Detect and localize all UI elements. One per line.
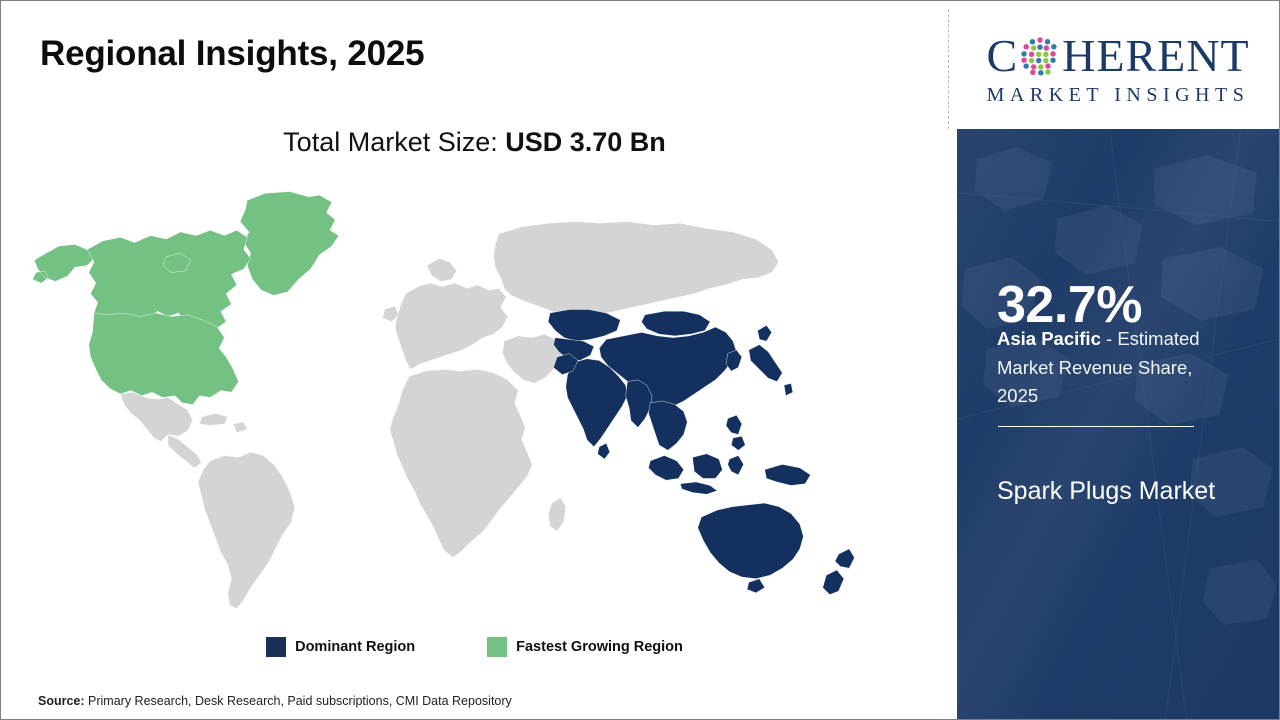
map-region-africa <box>390 369 533 557</box>
map-region-usa <box>89 313 239 405</box>
map-region-central-america <box>168 434 201 467</box>
legend-item-dominant: Dominant Region <box>266 637 415 657</box>
stat-panel-content: 32.7% Asia Pacific - Estimated Market Re… <box>997 129 1247 719</box>
map-region-kazakhstan <box>548 309 620 341</box>
source-text: Primary Research, Desk Research, Paid su… <box>85 694 512 708</box>
world-map-container <box>29 181 909 621</box>
map-region-indonesia-sumatra <box>649 456 684 481</box>
map-region-europe <box>383 258 508 369</box>
legend-swatch-growing-icon <box>487 637 507 657</box>
stat-percentage-value: 32.7% <box>997 279 1142 331</box>
legend-label-fastest-growing: Fastest Growing Region <box>516 639 683 655</box>
regional-stat-panel: 32.7% Asia Pacific - Estimated Market Re… <box>957 129 1279 719</box>
logo-subtitle: MARKET INSIGHTS <box>987 84 1250 107</box>
total-market-size: Total Market Size: USD 3.70 Bn <box>1 127 948 158</box>
legend-swatch-dominant-icon <box>266 637 286 657</box>
world-map <box>29 181 909 621</box>
market-size-label: Total Market Size: <box>283 127 505 157</box>
map-region-greenland <box>240 192 339 296</box>
map-region-indonesia-java <box>680 482 717 494</box>
map-region-caribbean <box>200 413 248 432</box>
map-region-madagascar <box>548 498 566 531</box>
vertical-divider <box>948 9 949 129</box>
logo-wordmark: C <box>986 30 1249 82</box>
map-legend: Dominant Region Fastest Growing Region <box>1 637 948 657</box>
stat-divider-rule <box>998 426 1194 427</box>
map-region-russia <box>494 221 779 316</box>
page-title: Regional Insights, 2025 <box>40 34 424 74</box>
stat-region-name: Asia Pacific <box>997 328 1101 349</box>
map-region-alaska <box>33 244 95 283</box>
map-region-papua-new-guinea <box>765 464 811 485</box>
map-region-canada <box>87 230 251 329</box>
map-region-philippines <box>726 415 745 450</box>
map-region-japan <box>749 325 793 395</box>
map-region-mongolia <box>641 311 710 336</box>
map-region-korea <box>726 350 742 371</box>
map-region-new-zealand <box>823 549 855 595</box>
market-size-value: USD 3.70 Bn <box>505 127 666 157</box>
map-region-south-america <box>198 452 295 609</box>
source-note: Source: Primary Research, Desk Research,… <box>38 694 512 708</box>
regional-insights-slide: Regional Insights, 2025 Total Market Siz… <box>0 0 1280 720</box>
map-region-borneo <box>693 454 723 479</box>
coherent-market-insights-logo: C <box>957 3 1279 127</box>
globe-dots-icon <box>1019 35 1061 77</box>
map-region-sulawesi <box>728 456 744 475</box>
legend-label-dominant: Dominant Region <box>295 639 415 655</box>
map-region-southeast-asia <box>649 401 688 450</box>
map-region-sri-lanka <box>597 443 609 459</box>
stat-description: Asia Pacific - Estimated Market Revenue … <box>997 325 1237 411</box>
map-content-pane: Regional Insights, 2025 Total Market Siz… <box>1 1 948 719</box>
map-region-australia <box>698 503 804 593</box>
legend-item-fastest-growing: Fastest Growing Region <box>487 637 683 657</box>
market-name: Spark Plugs Market <box>997 469 1227 513</box>
logo-letters-herent: HERENT <box>1062 33 1249 79</box>
logo-letter-c: C <box>986 33 1018 79</box>
source-label: Source: <box>38 694 85 708</box>
